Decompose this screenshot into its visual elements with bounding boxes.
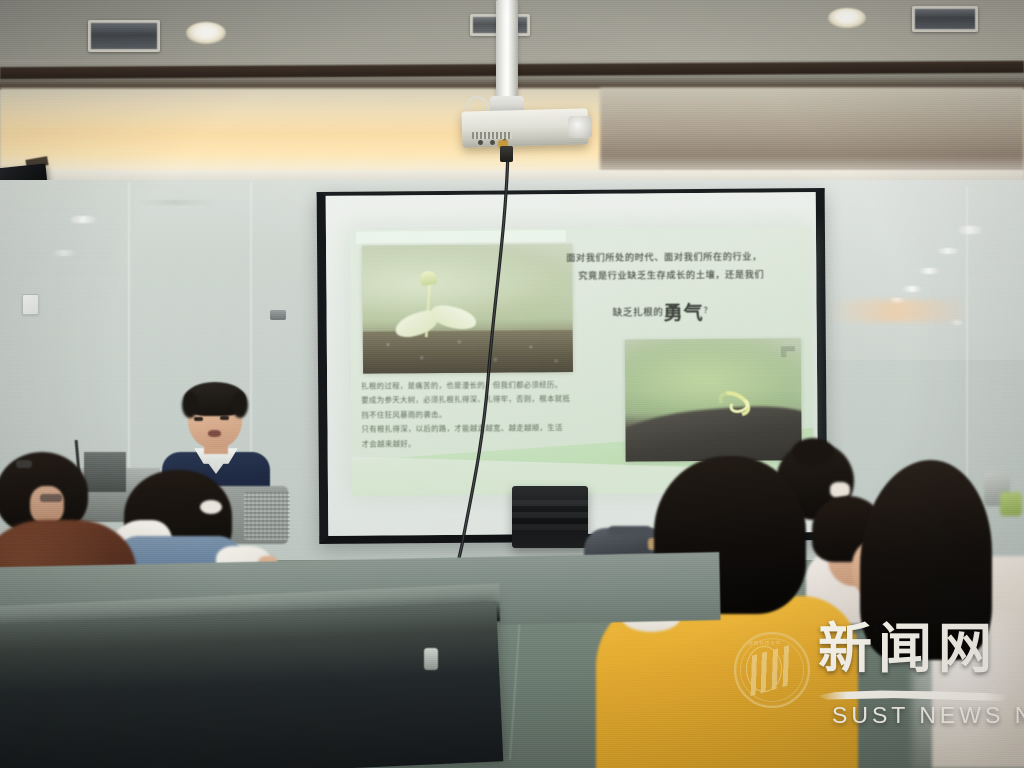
slide-headline-line1: 面对我们所处的时代、面对我们所在的行业， bbox=[566, 251, 762, 265]
air-vent bbox=[88, 20, 160, 52]
chair-mesh-back[interactable] bbox=[244, 492, 290, 540]
projector-port bbox=[478, 140, 483, 145]
slide-top-bar bbox=[356, 230, 566, 244]
projector-mount-pole bbox=[496, 0, 518, 104]
attendee-hair-clip bbox=[16, 460, 32, 468]
wall-rail bbox=[138, 200, 214, 205]
slide-headline-suffix: ？ bbox=[704, 306, 713, 315]
projector-lens bbox=[568, 116, 592, 138]
slide-photo-sprout bbox=[625, 338, 802, 461]
backpack-strap bbox=[608, 526, 652, 536]
light-reflection bbox=[956, 226, 984, 234]
warm-light-reflection bbox=[828, 300, 964, 322]
slide-body-line: 只有根扎得深，以后的路，才能越走越宽、越走越顺，生活 bbox=[361, 421, 597, 437]
slide-corner-mark bbox=[781, 346, 795, 357]
side-monitor bbox=[84, 452, 126, 492]
projector-plug bbox=[500, 146, 513, 162]
gravel-soil bbox=[363, 330, 573, 374]
light-reflection bbox=[936, 248, 960, 254]
projector-port bbox=[490, 140, 495, 145]
presenter-eye bbox=[220, 416, 229, 420]
black-chair[interactable] bbox=[512, 486, 588, 548]
slide-body-line: 要成为参天大树，必须扎根扎得深、扎得牢，否则，根本就抵 bbox=[361, 392, 597, 408]
presenter-hair-side bbox=[182, 392, 198, 418]
table-corner-fitting bbox=[424, 648, 438, 670]
light-reflection bbox=[918, 268, 940, 274]
attendee-glasses bbox=[40, 494, 62, 502]
slide-headline-line2: 究竟是行业缺乏生存成长的土壤，还是我们 bbox=[578, 268, 764, 282]
seedling-bud bbox=[419, 270, 437, 286]
slide-photo-seedling bbox=[362, 244, 573, 374]
projector-vent bbox=[472, 132, 512, 139]
air-vent bbox=[912, 6, 978, 32]
slide-headline-prefix: 缺乏扎根的 bbox=[613, 307, 664, 318]
slide-headline-line3: 缺乏扎根的勇气？ bbox=[612, 301, 712, 327]
attendee-face bbox=[30, 486, 64, 524]
slide-headline-emphasis: 勇气 bbox=[663, 303, 703, 324]
wall-sensor bbox=[270, 310, 286, 320]
ceiling-downlight bbox=[828, 8, 866, 28]
projected-slide: 面对我们所处的时代、面对我们所在的行业， 究竟是行业缺乏生存成长的土壤，还是我们… bbox=[350, 226, 814, 496]
front-conference-table bbox=[0, 601, 503, 768]
light-switch[interactable] bbox=[22, 294, 39, 315]
wall-panel-seam bbox=[128, 182, 130, 482]
light-reflection bbox=[68, 216, 98, 223]
attendee-hair-bun-knot bbox=[792, 438, 834, 466]
light-reflection bbox=[902, 286, 922, 292]
presenter-hair-side bbox=[232, 392, 248, 418]
slide-body-text: 扎根的过程，是痛苦的，也是漫长的，但我们都必须经历。 要成为参天大树，必须扎根扎… bbox=[361, 378, 598, 452]
green-cup bbox=[1000, 492, 1022, 516]
attendee-hair-tie bbox=[200, 500, 222, 514]
slide-body-line: 才会越来越好。 bbox=[362, 436, 598, 452]
light-reflection bbox=[52, 250, 76, 256]
ceiling-downlight bbox=[186, 22, 226, 44]
presenter-eye bbox=[194, 417, 203, 421]
lecture-hall-photo: 面对我们所处的时代、面对我们所在的行业， 究竟是行业缺乏生存成长的土壤，还是我们… bbox=[0, 0, 1024, 768]
presenter-mouth bbox=[208, 430, 221, 437]
